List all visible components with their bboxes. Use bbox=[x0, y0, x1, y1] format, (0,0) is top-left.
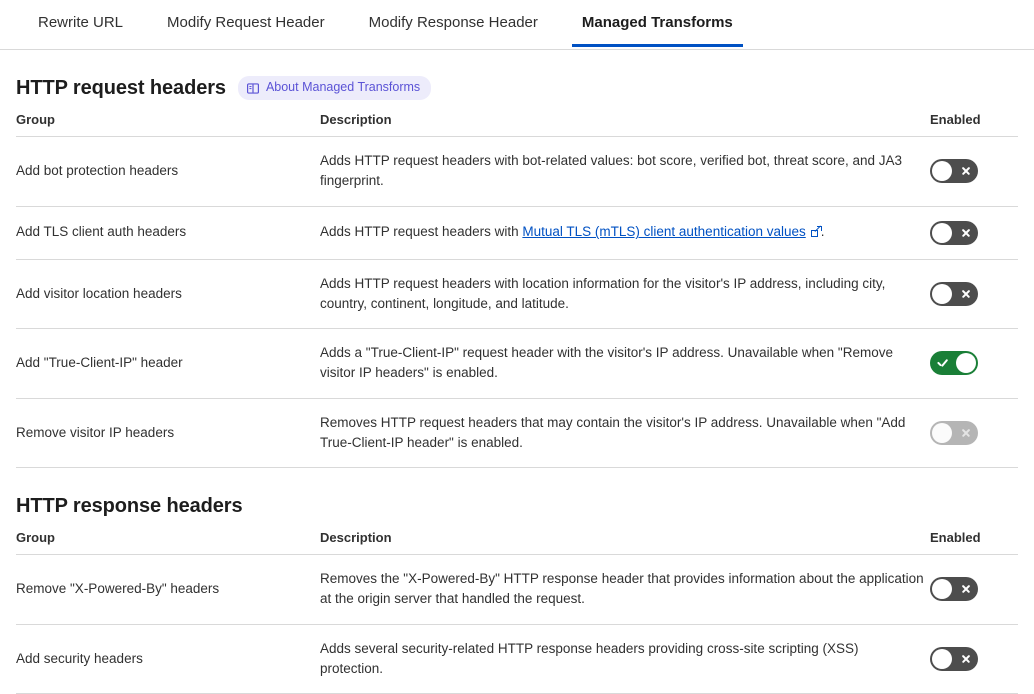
external-link-icon bbox=[811, 227, 821, 237]
row-description-text: Removes the "X-Powered-By" HTTP response… bbox=[320, 571, 924, 606]
row-description: Adds a "True-Client-IP" request header w… bbox=[320, 329, 930, 399]
row-description-text: Adds HTTP request headers with location … bbox=[320, 276, 885, 311]
close-icon bbox=[954, 577, 978, 601]
table-row: Add "True-Client-IP" headerAdds a "True-… bbox=[16, 329, 1018, 399]
description-link[interactable]: Mutual TLS (mTLS) client authentication … bbox=[522, 224, 805, 239]
toggle-knob bbox=[932, 579, 952, 599]
close-icon bbox=[954, 647, 978, 671]
close-icon bbox=[954, 421, 978, 445]
row-enabled-cell bbox=[930, 555, 1018, 625]
row-group-name: Remove visitor IP headers bbox=[16, 398, 320, 468]
toggle-knob bbox=[956, 353, 976, 373]
about-badge-label: About Managed Transforms bbox=[266, 79, 420, 95]
row-enabled-cell bbox=[930, 398, 1018, 468]
managed-transforms-table: GroupDescriptionEnabledAdd bot protectio… bbox=[16, 112, 1018, 468]
row-group-name: Add TLS client auth headers bbox=[16, 206, 320, 259]
row-description: Removes HTTP request headers that may co… bbox=[320, 398, 930, 468]
tab-rewrite-url[interactable]: Rewrite URL bbox=[16, 0, 145, 46]
table-row: Add TLS client auth headersAdds HTTP req… bbox=[16, 206, 1018, 259]
section-header: HTTP request headersAbout Managed Transf… bbox=[16, 50, 1018, 112]
column-header-description: Description bbox=[320, 530, 930, 555]
row-enabled-cell bbox=[930, 137, 1018, 207]
row-group-name: Add bot protection headers bbox=[16, 137, 320, 207]
description-prefix: Adds HTTP request headers with bbox=[320, 224, 522, 239]
enabled-toggle[interactable] bbox=[930, 577, 978, 601]
toggle-knob bbox=[932, 649, 952, 669]
column-header-description: Description bbox=[320, 112, 930, 137]
column-header-enabled: Enabled bbox=[930, 112, 1018, 137]
close-icon bbox=[954, 282, 978, 306]
row-group-name: Add security headers bbox=[16, 624, 320, 694]
row-description: Adds several security-related HTTP respo… bbox=[320, 624, 930, 694]
managed-transforms-table: GroupDescriptionEnabledRemove "X-Powered… bbox=[16, 530, 1018, 694]
table-row: Add visitor location headersAdds HTTP re… bbox=[16, 259, 1018, 329]
row-description-text: Adds several security-related HTTP respo… bbox=[320, 641, 858, 676]
row-description: Removes the "X-Powered-By" HTTP response… bbox=[320, 555, 930, 625]
about-managed-transforms-badge[interactable]: About Managed Transforms bbox=[238, 76, 431, 99]
row-enabled-cell bbox=[930, 624, 1018, 694]
tab-modify-response-header[interactable]: Modify Response Header bbox=[347, 0, 560, 46]
row-group-name: Add "True-Client-IP" header bbox=[16, 329, 320, 399]
managed-transforms-page: Rewrite URLModify Request HeaderModify R… bbox=[0, 0, 1034, 653]
enabled-toggle[interactable] bbox=[930, 647, 978, 671]
section-title: HTTP request headers bbox=[16, 76, 226, 100]
table-header-row: GroupDescriptionEnabled bbox=[16, 112, 1018, 137]
row-description: Adds HTTP request headers with Mutual TL… bbox=[320, 206, 930, 259]
toggle-knob bbox=[932, 161, 952, 181]
table-header-row: GroupDescriptionEnabled bbox=[16, 530, 1018, 555]
section: HTTP request headersAbout Managed Transf… bbox=[16, 50, 1018, 468]
column-header-enabled: Enabled bbox=[930, 530, 1018, 555]
sections-container: HTTP request headersAbout Managed Transf… bbox=[0, 50, 1034, 694]
section: HTTP response headersGroupDescriptionEna… bbox=[16, 468, 1018, 694]
row-description-text: Adds HTTP request headers with bot-relat… bbox=[320, 153, 902, 188]
section-title: HTTP response headers bbox=[16, 494, 243, 518]
tab-managed-transforms[interactable]: Managed Transforms bbox=[560, 0, 755, 46]
enabled-toggle[interactable] bbox=[930, 351, 978, 375]
toggle-knob bbox=[932, 223, 952, 243]
table-row: Remove visitor IP headersRemoves HTTP re… bbox=[16, 398, 1018, 468]
close-icon bbox=[954, 159, 978, 183]
row-description: Adds HTTP request headers with location … bbox=[320, 259, 930, 329]
row-description-text: Removes HTTP request headers that may co… bbox=[320, 415, 905, 450]
toggle-knob bbox=[932, 284, 952, 304]
row-group-name: Remove "X-Powered-By" headers bbox=[16, 555, 320, 625]
toggle-knob bbox=[932, 423, 952, 443]
tab-modify-request-header[interactable]: Modify Request Header bbox=[145, 0, 347, 46]
row-enabled-cell bbox=[930, 206, 1018, 259]
table-row: Add security headersAdds several securit… bbox=[16, 624, 1018, 694]
close-icon bbox=[954, 221, 978, 245]
tab-bar: Rewrite URLModify Request HeaderModify R… bbox=[0, 0, 1034, 50]
row-group-name: Add visitor location headers bbox=[16, 259, 320, 329]
row-description-text: Adds a "True-Client-IP" request header w… bbox=[320, 345, 893, 380]
row-description: Adds HTTP request headers with bot-relat… bbox=[320, 137, 930, 207]
row-description-text: Adds HTTP request headers with Mutual TL… bbox=[320, 224, 839, 239]
table-row: Remove "X-Powered-By" headersRemoves the… bbox=[16, 555, 1018, 625]
enabled-toggle[interactable] bbox=[930, 221, 978, 245]
section-header: HTTP response headers bbox=[16, 468, 1018, 530]
enabled-toggle bbox=[930, 421, 978, 445]
row-enabled-cell bbox=[930, 329, 1018, 399]
table-row: Add bot protection headersAdds HTTP requ… bbox=[16, 137, 1018, 207]
book-icon bbox=[247, 82, 259, 93]
enabled-toggle[interactable] bbox=[930, 159, 978, 183]
enabled-toggle[interactable] bbox=[930, 282, 978, 306]
column-header-group: Group bbox=[16, 112, 320, 137]
row-enabled-cell bbox=[930, 259, 1018, 329]
check-icon bbox=[930, 351, 954, 375]
column-header-group: Group bbox=[16, 530, 320, 555]
